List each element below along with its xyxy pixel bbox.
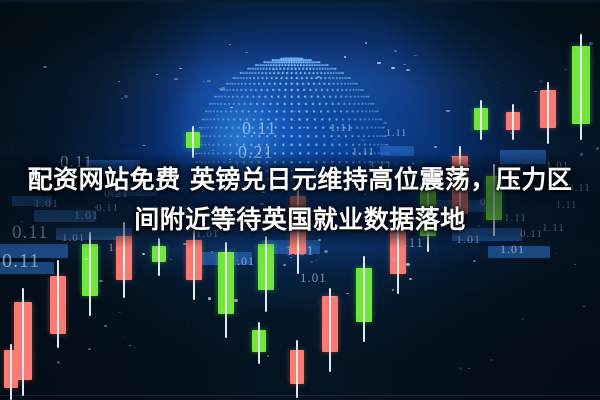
- particle: [221, 87, 225, 90]
- particle: [170, 259, 172, 261]
- particle: [490, 359, 494, 362]
- particle: [121, 98, 123, 99]
- particle: [377, 62, 381, 64]
- particle: [293, 111, 297, 113]
- particle: [208, 297, 212, 300]
- particle: [365, 42, 368, 44]
- particle: [283, 264, 286, 266]
- particle: [267, 355, 269, 356]
- particle: [83, 271, 87, 274]
- particle: [596, 147, 600, 150]
- particle: [218, 88, 221, 89]
- particle: [555, 253, 557, 254]
- particle: [521, 318, 524, 320]
- particle: [310, 261, 313, 263]
- particle: [245, 52, 248, 53]
- particle: [9, 267, 12, 269]
- particle: [392, 258, 396, 261]
- particle: [497, 82, 498, 83]
- particle: [403, 64, 406, 65]
- particle: [73, 352, 74, 353]
- particle: [234, 299, 238, 302]
- particle: [201, 129, 202, 130]
- particle: [61, 325, 63, 326]
- particle: [413, 55, 417, 56]
- particle: [118, 312, 120, 313]
- particle: [391, 67, 395, 69]
- particle: [394, 50, 397, 52]
- particle: [574, 264, 575, 265]
- particle: [174, 78, 178, 80]
- particle: [252, 89, 253, 90]
- particle: [186, 325, 188, 326]
- particle: [95, 316, 96, 317]
- particle: [459, 367, 462, 370]
- particle: [333, 139, 336, 140]
- headline-line-2: 间附近等待英国就业数据落地: [24, 200, 576, 240]
- particle: [88, 348, 91, 350]
- particle: [446, 110, 450, 111]
- particle: [510, 132, 513, 134]
- particle: [143, 145, 145, 146]
- particle: [409, 278, 412, 280]
- particle: [237, 260, 238, 261]
- particle: [303, 127, 305, 128]
- particle: [203, 81, 204, 82]
- particle: [124, 95, 128, 98]
- particle: [217, 115, 218, 116]
- particle: [594, 63, 595, 64]
- particle: [436, 250, 437, 251]
- particle: [179, 68, 182, 69]
- particle: [104, 325, 107, 327]
- particle: [294, 120, 295, 121]
- particle: [406, 69, 409, 70]
- particle: [211, 251, 213, 252]
- particle: [344, 56, 347, 58]
- particle: [142, 253, 145, 255]
- top-divider: [0, 0, 600, 2]
- particle: [583, 306, 584, 307]
- particle: [316, 260, 317, 261]
- particle: [332, 296, 335, 298]
- particle: [346, 293, 349, 295]
- particle: [539, 80, 543, 83]
- particle: [123, 337, 124, 338]
- particle: [589, 42, 592, 45]
- particle: [207, 80, 210, 82]
- particle: [156, 74, 158, 76]
- particle: [564, 69, 566, 70]
- particle: [434, 146, 437, 148]
- particle: [12, 145, 13, 146]
- news-banner: 0.110.110.111.011.011.010.111.111.010.21…: [0, 0, 600, 400]
- particle: [473, 260, 477, 262]
- headline-line-1: 配资网站免费 英镑兑日元维持高位震荡，压力区: [24, 160, 576, 200]
- particle: [43, 66, 47, 68]
- particle: [230, 107, 233, 108]
- particle: [324, 250, 328, 253]
- particle: [362, 140, 365, 142]
- particle: [118, 81, 120, 82]
- particle: [406, 263, 410, 266]
- particle: [468, 368, 469, 369]
- page-title: 配资网站免费 英镑兑日元维持高位震荡，压力区 间附近等待英国就业数据落地: [24, 160, 576, 240]
- particle: [84, 258, 88, 260]
- particle: [383, 122, 387, 124]
- particle: [392, 289, 394, 291]
- particle: [95, 275, 96, 276]
- particle: [290, 257, 292, 258]
- particle: [534, 91, 537, 92]
- particle: [229, 44, 230, 45]
- particle: [129, 345, 132, 347]
- particle: [330, 79, 331, 80]
- particle: [273, 69, 275, 70]
- particle: [57, 361, 60, 364]
- particle: [317, 76, 321, 78]
- bottom-divider: [0, 395, 600, 396]
- particle: [99, 280, 102, 282]
